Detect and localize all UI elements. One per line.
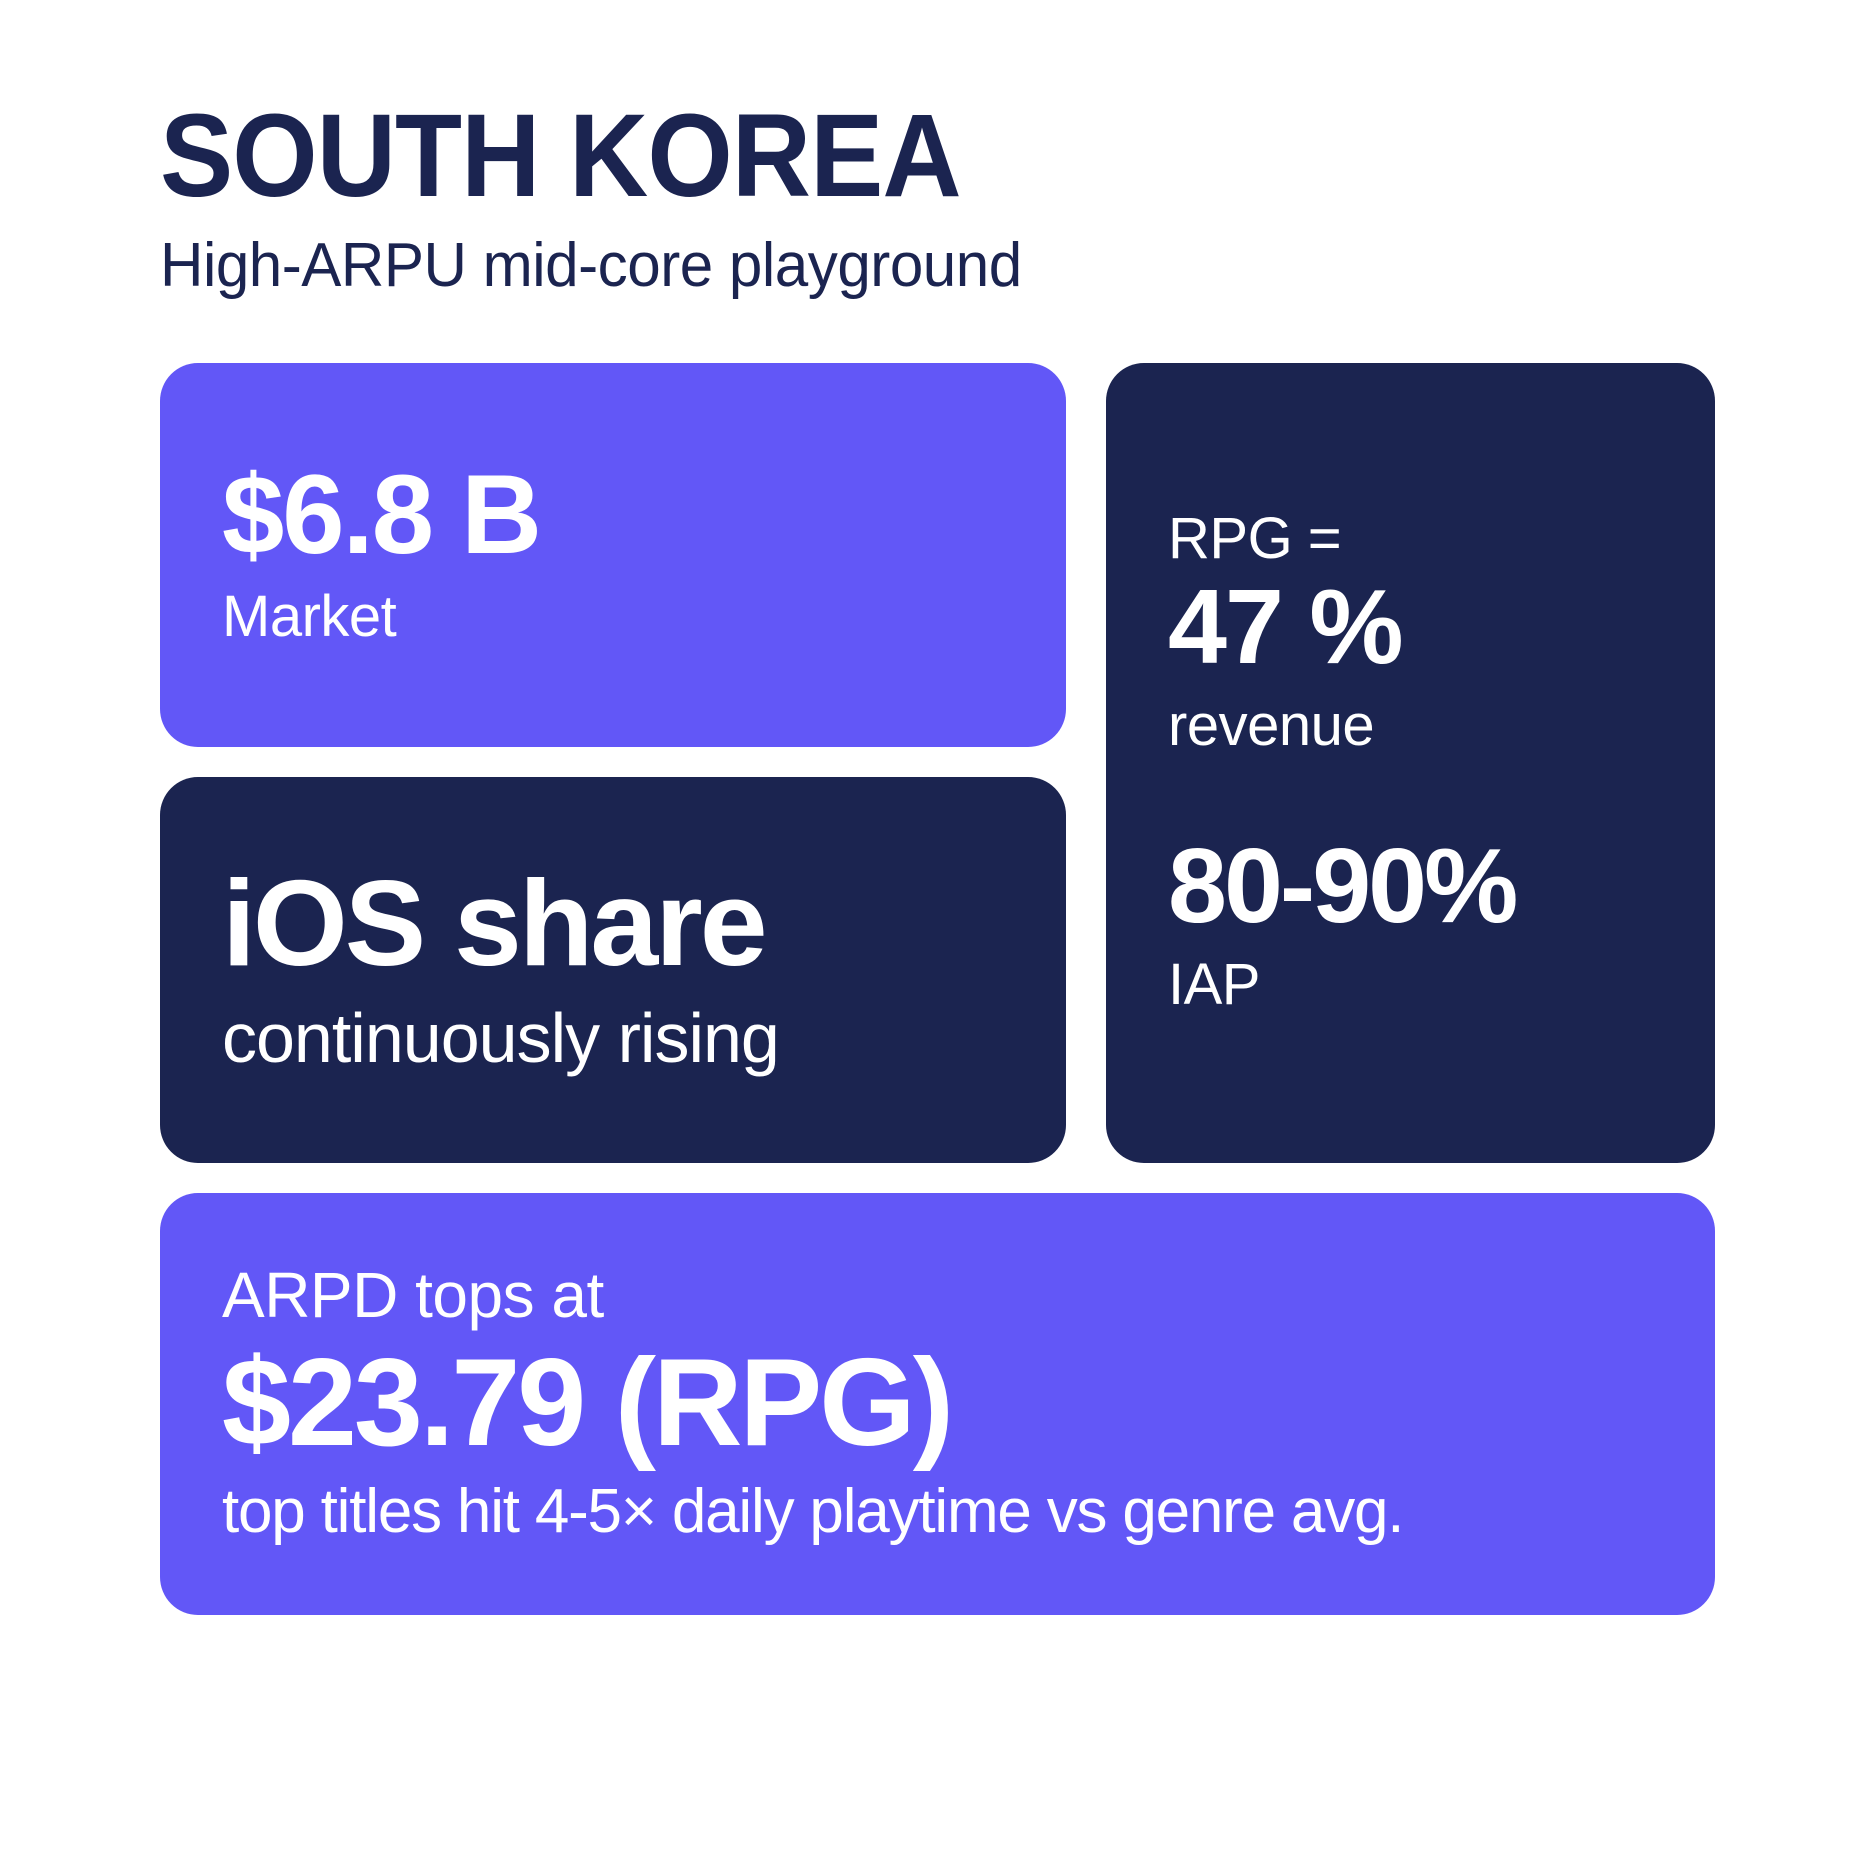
stat-card-market: $6.8 B Market	[160, 363, 1066, 747]
stat-card-rpg-iap: RPG = 47 % revenue 80-90% IAP	[1106, 363, 1715, 1163]
page-title: SOUTH KOREA	[160, 96, 1606, 216]
arpd-note: top titles hit 4-5× daily playtime vs ge…	[222, 1478, 1653, 1546]
ios-share-headline: iOS share	[222, 862, 1004, 984]
market-label: Market	[222, 585, 1004, 650]
page-subtitle: High-ARPU mid-core playground	[160, 232, 1668, 300]
stat-card-ios-share: iOS share continuously rising	[160, 777, 1066, 1163]
rpg-value: 47 %	[1168, 574, 1653, 680]
rpg-revenue-block: RPG = 47 % revenue	[1168, 507, 1653, 760]
arpd-eyebrow: ARPD tops at	[222, 1261, 1653, 1330]
infographic-page: SOUTH KOREA High-ARPU mid-core playgroun…	[0, 0, 1875, 1873]
iap-value: 80-90%	[1168, 833, 1653, 939]
header: SOUTH KOREA High-ARPU mid-core playgroun…	[160, 96, 1715, 301]
ios-share-subtext: continuously rising	[222, 1000, 1004, 1077]
iap-label: IAP	[1168, 953, 1653, 1018]
stat-card-grid: $6.8 B Market iOS share continuously ris…	[160, 363, 1715, 1615]
stat-card-arpd: ARPD tops at $23.79 (RPG) top titles hit…	[160, 1193, 1715, 1615]
iap-block: 80-90% IAP	[1168, 833, 1653, 1018]
market-value: $6.8 B	[222, 459, 1004, 571]
rpg-eyebrow: RPG =	[1168, 507, 1653, 571]
rpg-label: revenue	[1168, 694, 1653, 759]
arpd-value: $23.79 (RPG)	[222, 1338, 1653, 1468]
